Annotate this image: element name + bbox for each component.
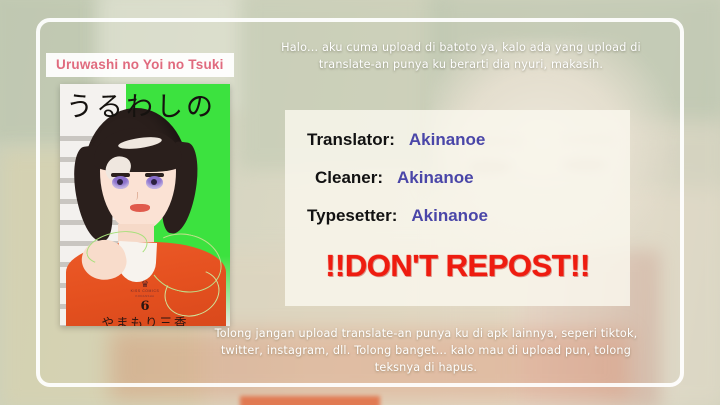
credit-row-typesetter: Typesetter:Akinanoe — [307, 206, 488, 226]
cover-character-eye-right — [146, 176, 163, 189]
cover-character-lips — [130, 204, 150, 212]
uploader-note-bottom: Tolong jangan upload translate-an punya … — [200, 325, 652, 376]
background-orange-strip — [240, 396, 380, 405]
cover-character-eye-left — [112, 176, 129, 189]
credit-row-cleaner: Cleaner:Akinanoe — [315, 168, 474, 188]
cover-bottom-logo-block: ♛ KISS COMICS KODANSHA 6 やまもり三香 DESSERT — [60, 280, 230, 326]
credit-value-typesetter: Akinanoe — [411, 206, 488, 225]
credit-label-typesetter: Typesetter: — [307, 206, 397, 225]
credit-label-translator: Translator: — [307, 130, 395, 149]
cover-volume-number: 6 — [60, 299, 230, 314]
credits-panel: Translator:Akinanoe Cleaner:Akinanoe Typ… — [285, 110, 630, 306]
manga-cover-image: うるわしの ♛ KISS COMICS KODANSHA 6 やまもり三香 DE… — [60, 84, 230, 326]
crown-icon: ♛ — [60, 280, 230, 289]
credit-row-translator: Translator:Akinanoe — [307, 130, 485, 150]
cover-character-nose — [132, 192, 138, 200]
screenshot-stage: Uruwashi no Yoi no Tsuki うるわしの ♛ KISS CO… — [0, 0, 720, 405]
uploader-note-top: Halo... aku cuma upload di batoto ya, ka… — [262, 40, 660, 73]
credit-label-cleaner: Cleaner: — [315, 168, 383, 187]
credit-value-cleaner: Akinanoe — [397, 168, 474, 187]
cover-japanese-title: うるわしの — [66, 84, 230, 134]
credit-value-translator: Akinanoe — [409, 130, 486, 149]
dont-repost-warning: !!DON'T REPOST!! — [285, 248, 630, 284]
series-title-banner: Uruwashi no Yoi no Tsuki — [46, 53, 234, 77]
